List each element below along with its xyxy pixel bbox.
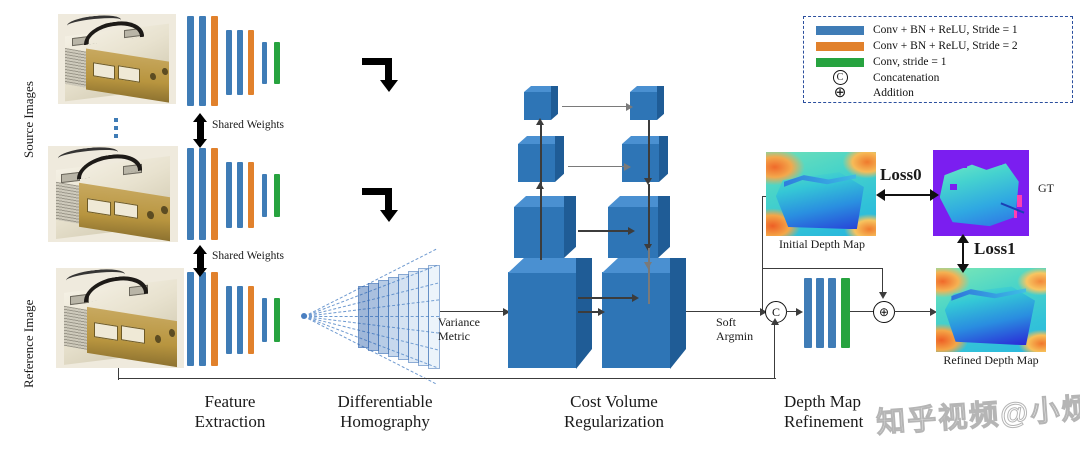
conv-bar-blue <box>226 162 232 228</box>
conv-bar-orange <box>248 286 254 354</box>
cost-volume-cube-large-1 <box>508 258 592 368</box>
plane-sweep-frustum <box>300 262 460 372</box>
variance-metric-line1: Variance <box>438 316 480 330</box>
legend-label-4: Addition <box>873 87 914 99</box>
stage-caption-differentiable-homography: Differentiable Homography <box>312 392 458 431</box>
conv-bar-blue <box>199 148 206 240</box>
conv-bar-green <box>274 298 280 342</box>
conv-bar-blue <box>262 298 267 342</box>
conv-bar-blue <box>816 278 824 348</box>
loss0-label: Loss0 <box>880 165 922 185</box>
ground-truth-depth-map-image <box>933 150 1029 236</box>
conv-bar-green <box>841 278 850 348</box>
blue-swatch <box>816 26 864 35</box>
stage-caption-line1: Feature <box>170 392 290 412</box>
cost-volume-cube-mid-right <box>608 196 670 258</box>
stage-caption-line2: Homography <box>312 412 458 432</box>
conv-bar-blue <box>187 148 194 240</box>
initial-depth-map-image <box>766 152 876 236</box>
cost-volume-cube-mid-left <box>514 196 576 258</box>
conv-bar-blue <box>199 16 206 106</box>
reference-image-thumbnail <box>56 268 184 368</box>
conv-bar-blue <box>237 286 243 354</box>
soft-argmin-line2: Argmin <box>716 330 753 344</box>
conv-bar-blue <box>804 278 812 348</box>
ground-truth-label: GT <box>1038 182 1054 196</box>
conv-bar-blue <box>199 272 206 366</box>
cost-volume-cube-tiny-left <box>524 86 558 120</box>
cost-volume-cube-large-2 <box>602 258 686 368</box>
legend-panel: Conv + BN + ReLU, Stride = 1 Conv + BN +… <box>803 16 1073 103</box>
legend-item-0: Conv + BN + ReLU, Stride = 1 <box>816 24 1018 36</box>
conv-bar-blue <box>237 162 243 228</box>
homography-to-costvolume-line <box>440 311 504 312</box>
conv-bar-blue <box>262 174 267 217</box>
conv-bar-blue <box>187 272 194 366</box>
costvolume-to-softargmin-line <box>686 311 762 312</box>
variance-metric-label: Variance Metric <box>438 316 480 344</box>
addition-circle-icon: ⊕ <box>816 86 864 99</box>
stage-caption-line2: Extraction <box>170 412 290 432</box>
source-images-label: Source Images <box>22 18 37 158</box>
conv-bar-blue <box>828 278 836 348</box>
stage-caption-feature-extraction: Feature Extraction <box>170 392 290 431</box>
stage-caption-line2: Regularization <box>534 412 694 432</box>
initial-depth-map-caption: Initial Depth Map <box>760 238 884 252</box>
conv-bar-blue <box>226 286 232 354</box>
soft-argmin-line1: Soft <box>716 316 753 330</box>
legend-item-1: Conv + BN + ReLU, Stride = 2 <box>816 40 1018 52</box>
source-image-thumbnail-2 <box>48 146 178 242</box>
conv-bar-green <box>274 42 280 84</box>
orange-swatch <box>816 42 864 51</box>
addition-to-refined-depthmap-line <box>894 311 932 312</box>
refined-depth-map-image <box>936 268 1046 352</box>
conv-bar-orange <box>211 272 218 366</box>
stage-caption-cost-volume-regularization: Cost Volume Regularization <box>534 392 694 431</box>
legend-label-0: Conv + BN + ReLU, Stride = 1 <box>873 24 1018 36</box>
soft-argmin-label: Soft Argmin <box>716 316 753 344</box>
conv-bar-blue <box>237 30 243 95</box>
conv-bar-orange <box>248 162 254 228</box>
shared-weights-label-top: Shared Weights <box>212 119 284 132</box>
conv-bar-blue <box>187 16 194 106</box>
legend-label-1: Conv + BN + ReLU, Stride = 2 <box>873 40 1018 52</box>
reference-image-label: Reference Image <box>22 258 37 388</box>
stage-caption-line1: Differentiable <box>312 392 458 412</box>
stage-caption-line1: Cost Volume <box>534 392 694 412</box>
cost-volume-cube-small-right <box>622 136 668 182</box>
variance-metric-line2: Metric <box>438 330 480 344</box>
conv-bar-blue <box>262 42 267 84</box>
refined-depth-map-caption: Refined Depth Map <box>928 354 1054 368</box>
loss1-label: Loss1 <box>974 239 1016 259</box>
legend-item-4: ⊕ Addition <box>816 86 914 99</box>
conv-bar-orange <box>211 148 218 240</box>
conv-bar-orange <box>211 16 218 106</box>
cost-volume-cube-tiny-right <box>630 86 664 120</box>
concat-to-refinement-arrowhead <box>796 308 803 316</box>
addition-circle-glyph: ⊕ <box>834 86 847 99</box>
source-images-ellipsis <box>114 118 118 138</box>
addition-operator: ⊕ <box>873 301 895 323</box>
green-swatch <box>816 58 864 67</box>
shared-weights-label-bottom: Shared Weights <box>212 250 284 263</box>
conv-bar-orange <box>248 30 254 95</box>
conv-bar-blue <box>226 30 232 95</box>
legend-item-2: Conv, stride = 1 <box>816 56 946 68</box>
source-image-thumbnail-1 <box>58 14 176 104</box>
conv-bar-green <box>274 174 280 217</box>
legend-label-3: Concatenation <box>873 72 939 84</box>
legend-label-2: Conv, stride = 1 <box>873 56 946 68</box>
